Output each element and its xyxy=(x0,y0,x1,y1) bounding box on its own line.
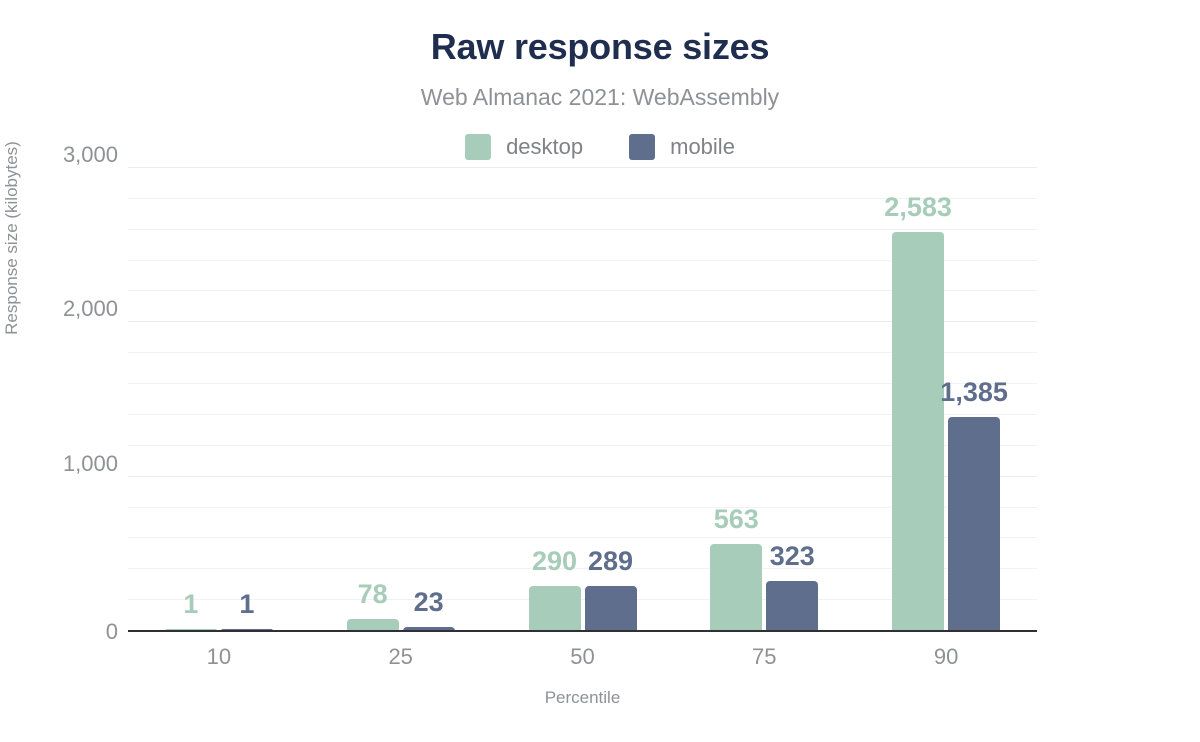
x-axis-tick-label: 25 xyxy=(321,644,481,670)
legend-item-mobile[interactable]: mobile xyxy=(629,134,735,160)
y-axis-tick-label: 1,000 xyxy=(46,450,118,477)
x-axis-title: Percentile xyxy=(128,688,1037,708)
value-label-mobile-p25: 23 xyxy=(354,587,504,618)
gridline xyxy=(128,229,1037,230)
legend-swatch-mobile xyxy=(629,134,655,160)
y-axis-tick-label: 2,000 xyxy=(46,295,118,322)
value-label-desktop-p75: 563 xyxy=(661,504,811,535)
bar-mobile-p90[interactable] xyxy=(948,417,1000,631)
value-label-mobile-p50: 289 xyxy=(536,546,686,577)
chart-legend: desktop mobile xyxy=(0,134,1200,160)
value-label-mobile-p75: 323 xyxy=(717,541,867,572)
legend-swatch-desktop xyxy=(465,134,491,160)
x-axis-tick-label: 75 xyxy=(684,644,844,670)
bar-mobile-p75[interactable] xyxy=(766,581,818,631)
value-label-mobile-p90: 1,385 xyxy=(899,377,1049,408)
bar-desktop-p50[interactable] xyxy=(529,586,581,631)
y-axis-tick-label: 3,000 xyxy=(46,141,118,168)
bar-chart: Raw response sizes Web Almanac 2021: Web… xyxy=(0,0,1200,742)
chart-subtitle: Web Almanac 2021: WebAssembly xyxy=(0,84,1200,111)
legend-item-desktop[interactable]: desktop xyxy=(465,134,583,160)
y-axis-tick-label: 0 xyxy=(46,618,118,645)
value-label-desktop-p90: 2,583 xyxy=(843,192,993,223)
legend-label-mobile: mobile xyxy=(670,134,735,160)
y-axis-title: Response size (kilobytes) xyxy=(2,28,22,448)
x-axis-tick-label: 50 xyxy=(503,644,663,670)
bar-desktop-p90[interactable] xyxy=(892,232,944,631)
x-axis-line xyxy=(128,630,1037,632)
bar-mobile-p50[interactable] xyxy=(585,586,637,631)
gridline xyxy=(128,167,1037,168)
chart-title: Raw response sizes xyxy=(0,26,1200,68)
x-axis-tick-label: 10 xyxy=(139,644,299,670)
legend-label-desktop: desktop xyxy=(506,134,583,160)
x-axis-tick-label: 90 xyxy=(866,644,1026,670)
